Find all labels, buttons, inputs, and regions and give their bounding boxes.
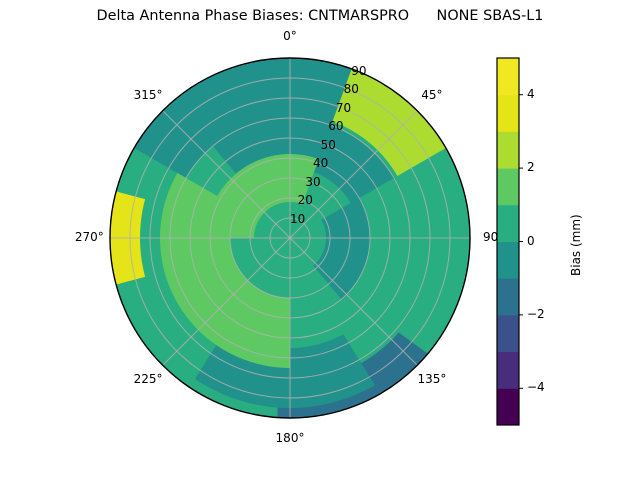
colorbar-band <box>497 388 519 425</box>
figure-canvas: Delta Antenna Phase Biases: CNTMARSPRO N… <box>0 0 640 480</box>
colorbar-axis-label: Bias (mm) <box>569 214 583 276</box>
radial-tick-label: 50 <box>308 138 348 152</box>
colorbar-band <box>497 242 519 279</box>
azimuth-tick-label: 180° <box>260 431 320 445</box>
colorbar-band <box>497 315 519 352</box>
radial-tick-label: 10 <box>278 212 318 226</box>
colorbar-tick-label: 0 <box>527 234 535 248</box>
colorbar-svg <box>490 40 630 480</box>
radial-tick-label: 90 <box>339 64 379 78</box>
colorbar-tick-label: 2 <box>527 160 535 174</box>
colorbar-band <box>497 205 519 242</box>
azimuth-tick-label: 0° <box>260 29 320 43</box>
colorbar-band <box>497 168 519 205</box>
azimuth-tick-label: 315° <box>118 88 178 102</box>
radial-tick-label: 80 <box>331 82 371 96</box>
radial-tick-label: 40 <box>301 156 341 170</box>
colorbar-tick-label: −4 <box>527 380 545 394</box>
azimuth-tick-label: 135° <box>402 372 462 386</box>
azimuth-tick-label: 270° <box>59 230 119 244</box>
azimuth-tick-label: 225° <box>118 372 178 386</box>
colorbar-band <box>497 352 519 389</box>
colorbar-band-group <box>497 58 519 426</box>
radial-tick-label: 70 <box>324 101 364 115</box>
colorbar-band <box>497 131 519 168</box>
colorbar-band <box>497 278 519 315</box>
radial-tick-label: 20 <box>285 193 325 207</box>
radial-tick-label: 60 <box>316 119 356 133</box>
colorbar-band <box>497 58 519 95</box>
colorbar-band <box>497 95 519 132</box>
radial-tick-label: 30 <box>293 175 333 189</box>
colorbar-tick-label: 4 <box>527 87 535 101</box>
azimuth-tick-label: 45° <box>402 88 462 102</box>
polar-grid-layer <box>110 58 470 418</box>
colorbar-tick-label: −2 <box>527 307 545 321</box>
